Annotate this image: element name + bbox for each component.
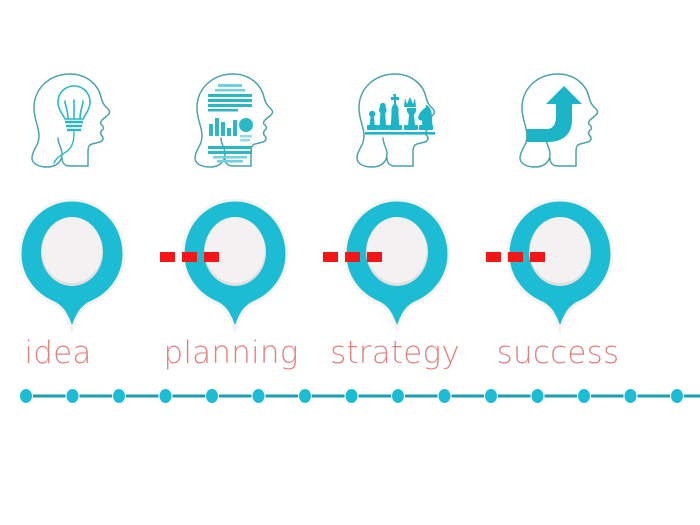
infographic-canvas: idea planning strategy success [0,0,700,525]
pin-marker-success[interactable] [500,196,620,336]
dash-segment [367,252,382,262]
dash-connector-3 [486,252,545,262]
dash-connector-2 [323,252,382,262]
dash-segment [530,252,545,262]
head-icon-row [0,62,700,182]
step-label-row: idea planning strategy success [0,333,700,377]
bottom-dotted-timeline [0,386,700,406]
pin-marker-strategy[interactable] [337,196,457,336]
pin-marker-idea[interactable] [12,196,132,336]
dash-segment [486,252,501,262]
dash-segment [204,252,219,262]
head-rising-arrow-icon [500,62,620,182]
dash-segment [508,252,523,262]
dash-connector-1 [160,252,219,262]
dash-segment [182,252,197,262]
step-label-success: success [458,333,658,373]
head-chess-icon [337,62,457,182]
pin-marker-planning[interactable] [175,196,295,336]
head-document-chart-icon [175,62,295,182]
dash-segment [345,252,360,262]
pin-marker-row [0,196,700,336]
dash-segment [160,252,175,262]
dash-segment [323,252,338,262]
head-lightbulb-icon [12,62,132,182]
